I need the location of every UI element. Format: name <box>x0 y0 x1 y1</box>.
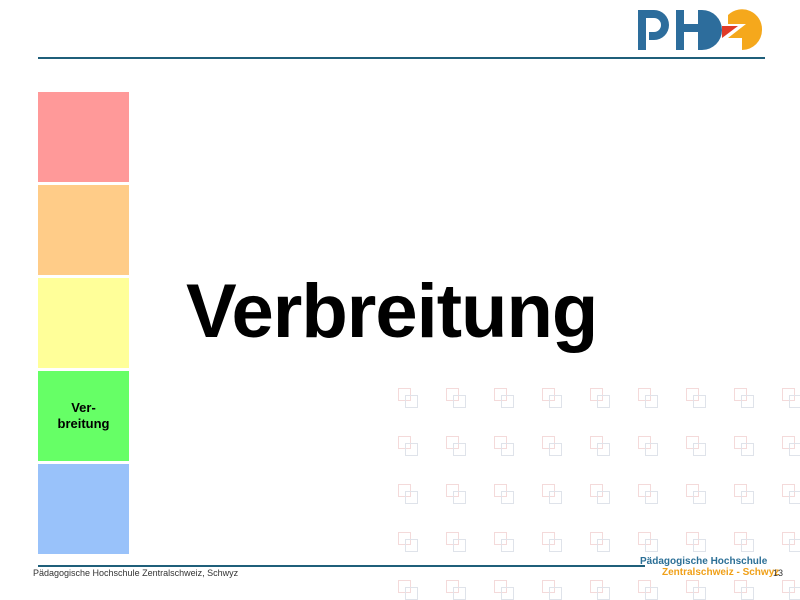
watermark-square-front <box>638 484 651 497</box>
chip-pink[interactable] <box>38 92 129 182</box>
watermark-glyph <box>590 436 612 458</box>
brand-line-1: Pädagogische Hochschule <box>640 556 760 567</box>
top-divider <box>38 57 765 59</box>
watermark-glyph <box>782 580 800 600</box>
watermark-square-front <box>590 388 603 401</box>
watermark-square-back <box>405 491 418 504</box>
watermark-glyph <box>734 436 756 458</box>
watermark-glyph <box>734 388 756 410</box>
watermark-glyph <box>638 388 660 410</box>
footer-institution: Pädagogische Hochschule Zentralschweiz, … <box>33 568 238 578</box>
watermark-square-front <box>494 388 507 401</box>
watermark-glyph <box>446 580 468 600</box>
slide-canvas: Ver- breitung Verbreitung Pädagogische H… <box>0 0 800 600</box>
watermark-square-back <box>597 443 610 456</box>
watermark-glyph <box>686 388 708 410</box>
watermark-square-back <box>645 443 658 456</box>
watermark-glyph <box>638 580 660 600</box>
chip-blue[interactable] <box>38 464 129 554</box>
watermark-square-front <box>494 484 507 497</box>
watermark-square-front <box>542 436 555 449</box>
watermark-square-back <box>453 491 466 504</box>
watermark-square-front <box>734 484 747 497</box>
chip-green[interactable]: Ver- breitung <box>38 371 129 461</box>
watermark-square-back <box>645 539 658 552</box>
watermark-square-front <box>398 388 411 401</box>
watermark-glyph <box>494 484 516 506</box>
watermark-square-front <box>686 532 699 545</box>
watermark-square-front <box>590 532 603 545</box>
watermark-square-back <box>597 491 610 504</box>
watermark-square-back <box>789 443 800 456</box>
watermark-square-back <box>693 587 706 600</box>
watermark-square-front <box>398 436 411 449</box>
phz-logo <box>634 6 766 50</box>
watermark-square-back <box>501 539 514 552</box>
watermark-square-back <box>405 443 418 456</box>
watermark-glyph <box>782 388 800 410</box>
chip-column: Ver- breitung <box>38 92 129 557</box>
watermark-square-back <box>405 395 418 408</box>
watermark-square-back <box>453 395 466 408</box>
watermark-square-front <box>494 580 507 593</box>
watermark-glyph <box>398 388 420 410</box>
watermark-square-back <box>693 395 706 408</box>
watermark-square-front <box>446 484 459 497</box>
chip-peach[interactable] <box>38 185 129 275</box>
watermark-glyph <box>734 580 756 600</box>
watermark-glyph <box>734 532 756 554</box>
watermark-glyph <box>782 484 800 506</box>
watermark-glyph <box>398 580 420 600</box>
watermark-square-front <box>686 484 699 497</box>
watermark-glyph <box>686 532 708 554</box>
watermark-square-front <box>782 436 795 449</box>
watermark-square-front <box>590 436 603 449</box>
watermark-glyph <box>494 580 516 600</box>
bottom-divider <box>38 565 645 567</box>
watermark-glyph <box>686 484 708 506</box>
watermark-square-front <box>782 580 795 593</box>
watermark-square-back <box>645 395 658 408</box>
watermark-square-front <box>782 388 795 401</box>
watermark-glyph <box>638 532 660 554</box>
watermark-square-front <box>734 388 747 401</box>
watermark-square-front <box>446 436 459 449</box>
watermark-square-back <box>501 587 514 600</box>
watermark-glyph <box>638 484 660 506</box>
watermark-square-back <box>453 587 466 600</box>
watermark-glyph <box>398 484 420 506</box>
watermark-glyph <box>542 532 564 554</box>
watermark-square-back <box>789 587 800 600</box>
watermark-square-back <box>405 539 418 552</box>
watermark-square-front <box>686 436 699 449</box>
watermark-square-back <box>645 491 658 504</box>
watermark-square-back <box>693 539 706 552</box>
watermark-square-front <box>398 580 411 593</box>
chip-yellow[interactable] <box>38 278 129 368</box>
watermark-square-back <box>789 539 800 552</box>
watermark-square-back <box>501 491 514 504</box>
watermark-glyph <box>398 532 420 554</box>
watermark-square-front <box>542 580 555 593</box>
watermark-square-front <box>638 580 651 593</box>
watermark-glyph <box>638 436 660 458</box>
watermark-square-back <box>597 539 610 552</box>
brand-block: Pädagogische Hochschule Zentralschweiz -… <box>640 556 760 578</box>
watermark-glyph <box>494 388 516 410</box>
watermark-glyph <box>542 580 564 600</box>
watermark-glyph <box>494 532 516 554</box>
watermark-square-front <box>638 388 651 401</box>
watermark-square-back <box>789 491 800 504</box>
watermark-square-front <box>590 580 603 593</box>
watermark-square-back <box>789 395 800 408</box>
page-title: Verbreitung <box>186 274 597 350</box>
watermark-square-front <box>638 532 651 545</box>
watermark-square-back <box>549 491 562 504</box>
watermark-square-back <box>741 491 754 504</box>
page-number: 13 <box>773 568 783 578</box>
watermark-square-front <box>542 484 555 497</box>
watermark-glyph <box>590 388 612 410</box>
watermark-square-back <box>693 443 706 456</box>
watermark-square-back <box>597 395 610 408</box>
watermark-square-front <box>782 484 795 497</box>
watermark-glyph <box>446 436 468 458</box>
watermark-square-front <box>446 388 459 401</box>
watermark-glyph <box>494 436 516 458</box>
watermark-square-back <box>741 539 754 552</box>
watermark-square-front <box>734 436 747 449</box>
watermark-square-back <box>453 443 466 456</box>
watermark-square-front <box>446 580 459 593</box>
watermark-square-front <box>542 388 555 401</box>
watermark-square-front <box>686 580 699 593</box>
watermark-square-back <box>741 443 754 456</box>
logo-letter-p <box>638 10 669 50</box>
watermark-square-back <box>549 539 562 552</box>
brand-line-2: Zentralschweiz - Schwyz <box>640 567 760 578</box>
watermark-glyph <box>590 532 612 554</box>
watermark-glyph <box>686 580 708 600</box>
watermark-glyph <box>446 532 468 554</box>
watermark-square-front <box>398 532 411 545</box>
watermark-square-back <box>501 395 514 408</box>
watermark-glyph <box>542 436 564 458</box>
watermark-square-front <box>734 532 747 545</box>
watermark-glyph <box>446 484 468 506</box>
watermark-square-front <box>446 532 459 545</box>
watermark-square-back <box>453 539 466 552</box>
watermark-square-back <box>549 443 562 456</box>
watermark-square-back <box>741 395 754 408</box>
watermark-square-back <box>741 587 754 600</box>
watermark-square-front <box>542 532 555 545</box>
watermark-glyph <box>734 484 756 506</box>
watermark-square-front <box>734 580 747 593</box>
watermark-glyph <box>542 484 564 506</box>
watermark-square-front <box>638 436 651 449</box>
watermark-glyph <box>686 436 708 458</box>
watermark-glyph <box>590 484 612 506</box>
watermark-square-front <box>686 388 699 401</box>
watermark-glyph <box>398 436 420 458</box>
watermark-square-back <box>501 443 514 456</box>
watermark-glyph <box>782 436 800 458</box>
watermark-square-back <box>549 395 562 408</box>
watermark-square-front <box>782 532 795 545</box>
watermark-glyph <box>590 580 612 600</box>
watermark-square-back <box>693 491 706 504</box>
watermark-square-back <box>549 587 562 600</box>
watermark-glyph <box>782 532 800 554</box>
watermark-glyph <box>446 388 468 410</box>
watermark-square-back <box>405 587 418 600</box>
watermark-square-back <box>645 587 658 600</box>
watermark-glyph <box>542 388 564 410</box>
watermark-square-front <box>494 436 507 449</box>
logo-letter-h <box>676 10 722 50</box>
watermark-square-front <box>590 484 603 497</box>
chip-green-label: Ver- breitung <box>58 400 110 433</box>
watermark-square-front <box>494 532 507 545</box>
watermark-square-back <box>597 587 610 600</box>
watermark-square-front <box>398 484 411 497</box>
